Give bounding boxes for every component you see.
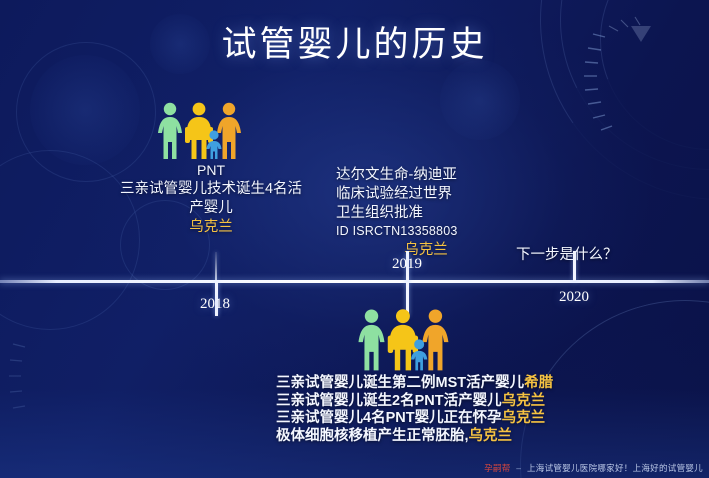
watermark-brand: 孕嗣帮 xyxy=(484,463,510,473)
event-text: 三亲试管婴儿诞生2名PNT活产婴儿 xyxy=(276,393,502,409)
timeline-year-2020: 2020 xyxy=(559,289,589,306)
timeline-year-2018: 2018 xyxy=(200,296,230,313)
event-country: 乌克兰 xyxy=(502,393,546,409)
background-arc xyxy=(483,263,709,478)
event-country: 乌克兰 xyxy=(469,428,513,444)
event-text: 三亲试管婴儿诞生第二例MST活产婴儿 xyxy=(276,375,524,391)
slide-canvas: 试管婴儿的历史 PNT 三亲试管婴儿技术诞生4名活 产婴儿 乌克兰 xyxy=(0,0,709,478)
family-group-icon xyxy=(352,308,456,372)
event-text-line1: 达尔文生命-纳迪亚 xyxy=(336,166,516,185)
event-block-2019-top: 达尔文生命-纳迪亚 临床试验经过世界 卫生组织批准 ID ISRCTN13358… xyxy=(336,166,516,260)
event-text-line2: 产婴儿 xyxy=(96,199,326,218)
event-block-2018: PNT 三亲试管婴儿技术诞生4名活 产婴儿 乌克兰 xyxy=(96,160,326,237)
event-row: 极体细胞核移植产生正常胚胎,乌克兰 xyxy=(276,428,636,446)
slide-title: 试管婴儿的历史 xyxy=(0,16,709,67)
event-text: 极体细胞核移植产生正常胚胎, xyxy=(276,428,469,444)
pnt-label: PNT xyxy=(96,160,326,180)
watermark: 孕嗣帮 – 上海试管婴儿医院哪家好！上海好的试管婴儿 xyxy=(484,462,703,474)
event-text-line1: 三亲试管婴儿技术诞生4名活 xyxy=(96,180,326,199)
event-country: 乌克兰 xyxy=(96,218,326,237)
connector-stem-2018 xyxy=(215,252,217,282)
timeline-axis xyxy=(0,280,709,283)
trial-id: ID ISRCTN13358803 xyxy=(336,223,516,240)
event-row: 三亲试管婴儿4名PNT婴儿正在怀孕乌克兰 xyxy=(276,410,636,428)
background-circle-glow xyxy=(440,60,520,140)
background-dial-ticks xyxy=(3,330,93,450)
watermark-text: 上海试管婴儿医院哪家好！上海好的试管婴儿 xyxy=(527,463,703,473)
event-text-line2: 临床试验经过世界 xyxy=(336,185,516,204)
event-text: 三亲试管婴儿4名PNT婴儿正在怀孕 xyxy=(276,410,502,426)
event-text-line3: 卫生组织批准 xyxy=(336,204,516,223)
event-row: 三亲试管婴儿诞生第二例MST活产婴儿希腊 xyxy=(276,375,636,393)
watermark-separator: – xyxy=(516,463,521,473)
event-country: 希腊 xyxy=(524,375,553,391)
timeline-tick-2020 xyxy=(573,251,576,281)
event-block-2019-bottom: 三亲试管婴儿诞生第二例MST活产婴儿希腊 三亲试管婴儿诞生2名PNT活产婴儿乌克… xyxy=(276,375,636,445)
timeline-year-2019: 2019 xyxy=(392,256,422,273)
background-circle-glow xyxy=(30,55,140,165)
event-country: 乌克兰 xyxy=(502,410,546,426)
next-step-question: 下一步是什么？ xyxy=(516,243,666,264)
family-group-icon xyxy=(152,102,248,160)
event-row: 三亲试管婴儿诞生2名PNT活产婴儿乌克兰 xyxy=(276,393,636,411)
event-country: 乌克兰 xyxy=(336,241,516,260)
